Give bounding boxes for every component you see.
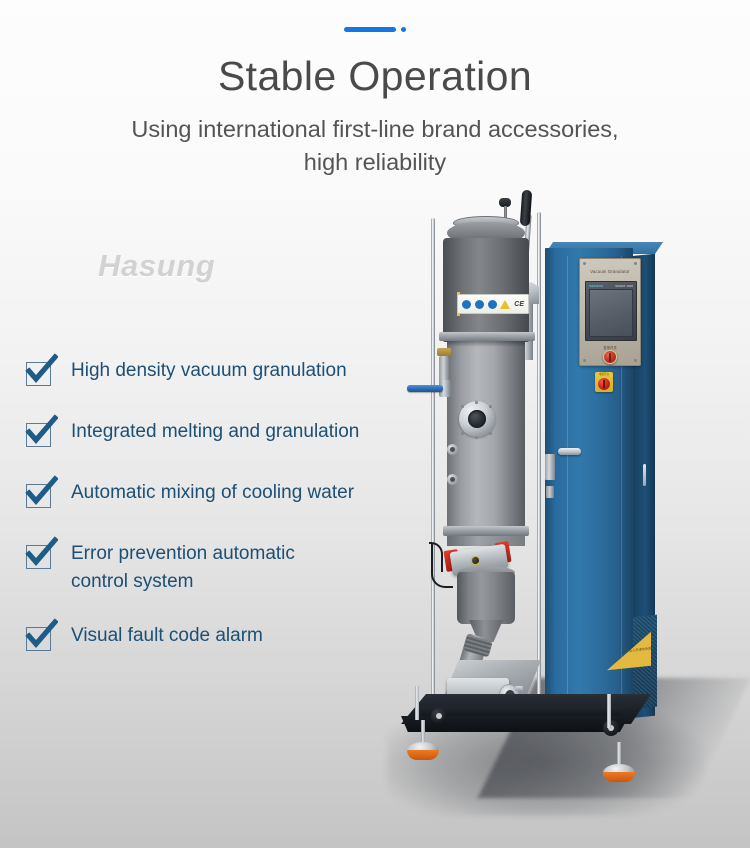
leveling-foot-ring-left — [407, 750, 439, 760]
feature-label: Automatic mixing of cooling water — [71, 482, 354, 503]
checkbox-checked-icon — [24, 359, 54, 387]
hmi-brand-label: SIEMENS — [589, 284, 603, 288]
leveling-foot-ring-right — [603, 772, 635, 782]
feature-label: Integrated melting and granulation — [71, 421, 359, 442]
guide-rod-right — [537, 212, 541, 698]
main-power-switch-label: 电源开关 — [596, 373, 612, 377]
cabinet-seam — [567, 256, 568, 706]
feature-label: High density vacuum granulation — [71, 360, 347, 381]
door-latch-lower[interactable] — [546, 486, 554, 498]
furnace-chamber — [443, 238, 529, 342]
emergency-stop-button[interactable] — [603, 350, 617, 364]
page-title: Stable Operation — [0, 54, 750, 99]
feature-label-line2: control system — [71, 568, 295, 596]
subtitle-line-2: high reliability — [304, 149, 446, 175]
list-item: High density vacuum granulation — [24, 356, 444, 387]
port-bolt — [461, 405, 464, 408]
port-bolt — [461, 432, 464, 435]
vacuum-granulator-machine-image: Vacuum Granulator SIEMENS SMART 1000 急停开… — [395, 186, 715, 816]
leveling-foot-bolt-left — [415, 686, 419, 720]
list-item: Integrated melting and granulation — [24, 417, 444, 448]
panel-screw — [583, 262, 586, 265]
vessel-nozzle-lower — [447, 474, 458, 485]
safety-icon-3 — [488, 300, 497, 309]
leveling-foot-bolt-right — [607, 694, 611, 728]
port-bolt — [475, 436, 478, 439]
port-bolt — [475, 401, 478, 404]
main-power-switch[interactable]: 电源开关 — [595, 372, 613, 392]
control-panel[interactable]: Vacuum Granulator SIEMENS SMART 1000 急停开… — [579, 258, 641, 366]
feature-text: Integrated melting and granulation — [71, 417, 359, 446]
door-handle[interactable] — [558, 448, 581, 455]
checkbox-checked-icon — [24, 624, 54, 652]
list-item: Error prevention automatic control syste… — [24, 539, 444, 595]
caster-wheel-left — [431, 708, 447, 724]
furnace-clamp-band — [439, 332, 535, 341]
port-bolt — [489, 405, 492, 408]
vessel-nozzle-upper — [447, 444, 458, 455]
hmi-screen-surface[interactable] — [589, 289, 633, 337]
checkbox-checked-icon — [24, 481, 54, 509]
main-vessel-cylinder — [447, 341, 525, 531]
warning-triangle-icon — [500, 300, 510, 309]
caster-wheel-right — [603, 720, 619, 736]
checkbox-checked-icon — [24, 420, 54, 448]
accent-divider — [0, 0, 750, 32]
vessel-bottom-flange — [443, 526, 529, 536]
feature-label: Error prevention automatic — [71, 543, 295, 564]
ce-mark-label: CE — [514, 301, 524, 308]
vessel-top-shading — [447, 341, 525, 347]
side-door-handle[interactable] — [643, 464, 646, 486]
panel-screw — [634, 262, 637, 265]
list-item: Automatic mixing of cooling water — [24, 478, 444, 509]
safety-icon-2 — [475, 300, 484, 309]
panel-title: Vacuum Granulator — [580, 269, 640, 274]
page-subtitle: Using international first-line brand acc… — [0, 113, 750, 178]
valve-fitting-nut — [437, 348, 451, 356]
safety-icon-1 — [462, 300, 471, 309]
blue-valve-handle[interactable] — [407, 385, 443, 392]
list-item: Visual fault code alarm — [24, 621, 444, 652]
checkbox-checked-icon — [24, 542, 54, 570]
hmi-model-label: SMART 1000 — [615, 284, 633, 288]
panel-screw — [634, 359, 637, 362]
guide-rod-left — [431, 218, 435, 696]
tank-cap-clamp[interactable] — [515, 686, 523, 691]
panel-screw — [583, 359, 586, 362]
safety-sticker: CE — [457, 294, 529, 314]
feature-list: High density vacuum granulation Integrat… — [24, 356, 444, 682]
hmi-touchscreen[interactable]: SIEMENS SMART 1000 — [585, 281, 637, 341]
feature-text: High density vacuum granulation — [71, 356, 347, 385]
door-latch[interactable] — [545, 454, 555, 480]
port-bolt — [489, 432, 492, 435]
vessel-bottom-neck — [447, 536, 525, 546]
feature-text: Automatic mixing of cooling water — [71, 478, 354, 507]
accent-bar — [344, 27, 396, 32]
feature-text: Error prevention automatic control syste… — [71, 539, 295, 595]
granulation-drum — [457, 572, 515, 624]
main-power-switch-knob[interactable] — [598, 378, 610, 390]
subtitle-line-1: Using international first-line brand acc… — [131, 116, 618, 142]
pneumatic-hose-upper — [429, 542, 443, 572]
feature-label: Visual fault code alarm — [71, 625, 263, 646]
feature-text: Visual fault code alarm — [71, 621, 263, 650]
lid-knob[interactable] — [499, 198, 511, 207]
brand-logo: Hasung — [98, 248, 215, 284]
accent-dot — [401, 27, 406, 32]
